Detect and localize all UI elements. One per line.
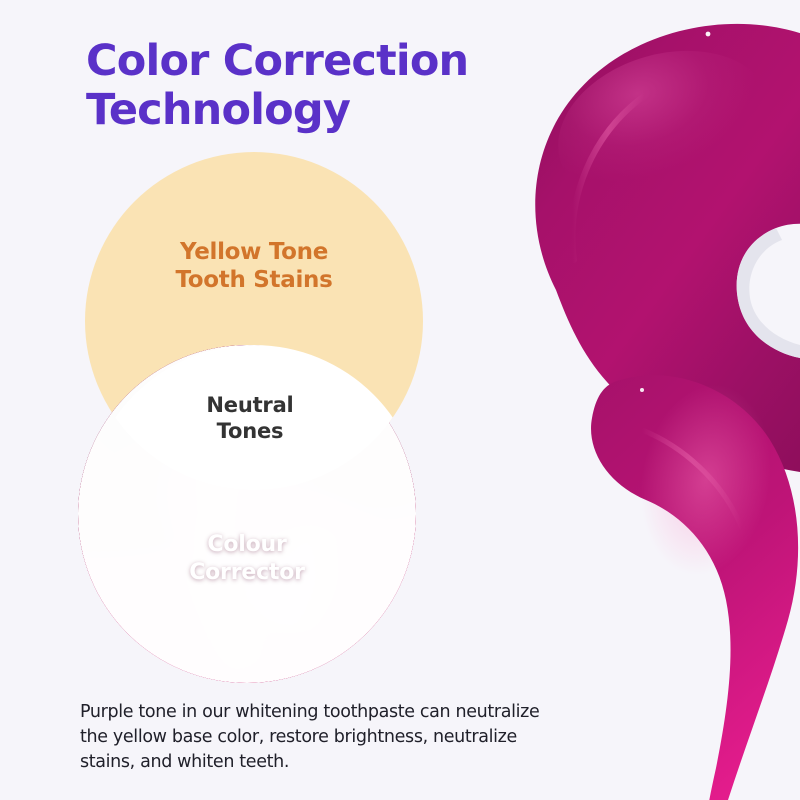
gel-swirl-lower xyxy=(591,375,798,800)
gel-edge-highlight-2 xyxy=(642,430,742,528)
venn-label-yellow-tone: Yellow Tone Tooth Stains xyxy=(84,238,424,294)
venn-label-colour-corrector: Colour Corrector xyxy=(78,531,416,587)
venn-label-yellow-line-2: Tooth Stains xyxy=(84,266,424,294)
venn-label-pink-line-2: Corrector xyxy=(78,559,416,587)
venn-label-yellow-line-1: Yellow Tone xyxy=(84,238,424,266)
gel-gloss-top xyxy=(539,27,792,234)
gel-bubble-1 xyxy=(706,32,711,37)
venn-label-neutral-tones: Neutral Tones xyxy=(80,392,420,444)
gel-swirl-notch xyxy=(737,228,800,364)
purple-gel-swirl-decoration xyxy=(470,0,800,800)
gel-gloss-mid xyxy=(626,374,785,585)
gel-bubble-2 xyxy=(640,388,644,392)
gel-edge-highlight-1 xyxy=(572,96,644,260)
page-title: Color Correction Technology xyxy=(86,38,506,134)
caption-text: Purple tone in our whitening toothpaste … xyxy=(80,700,550,775)
title-line-2: Technology xyxy=(86,87,506,134)
venn-label-neutral-line-1: Neutral xyxy=(80,392,420,418)
venn-label-pink-line-1: Colour xyxy=(78,531,416,559)
gel-swirl-upper xyxy=(535,24,800,480)
promo-graphic-canvas: Color Correction Technology Yellow Tone … xyxy=(0,0,800,800)
title-line-1: Color Correction xyxy=(86,38,506,85)
venn-label-neutral-line-2: Tones xyxy=(80,418,420,444)
